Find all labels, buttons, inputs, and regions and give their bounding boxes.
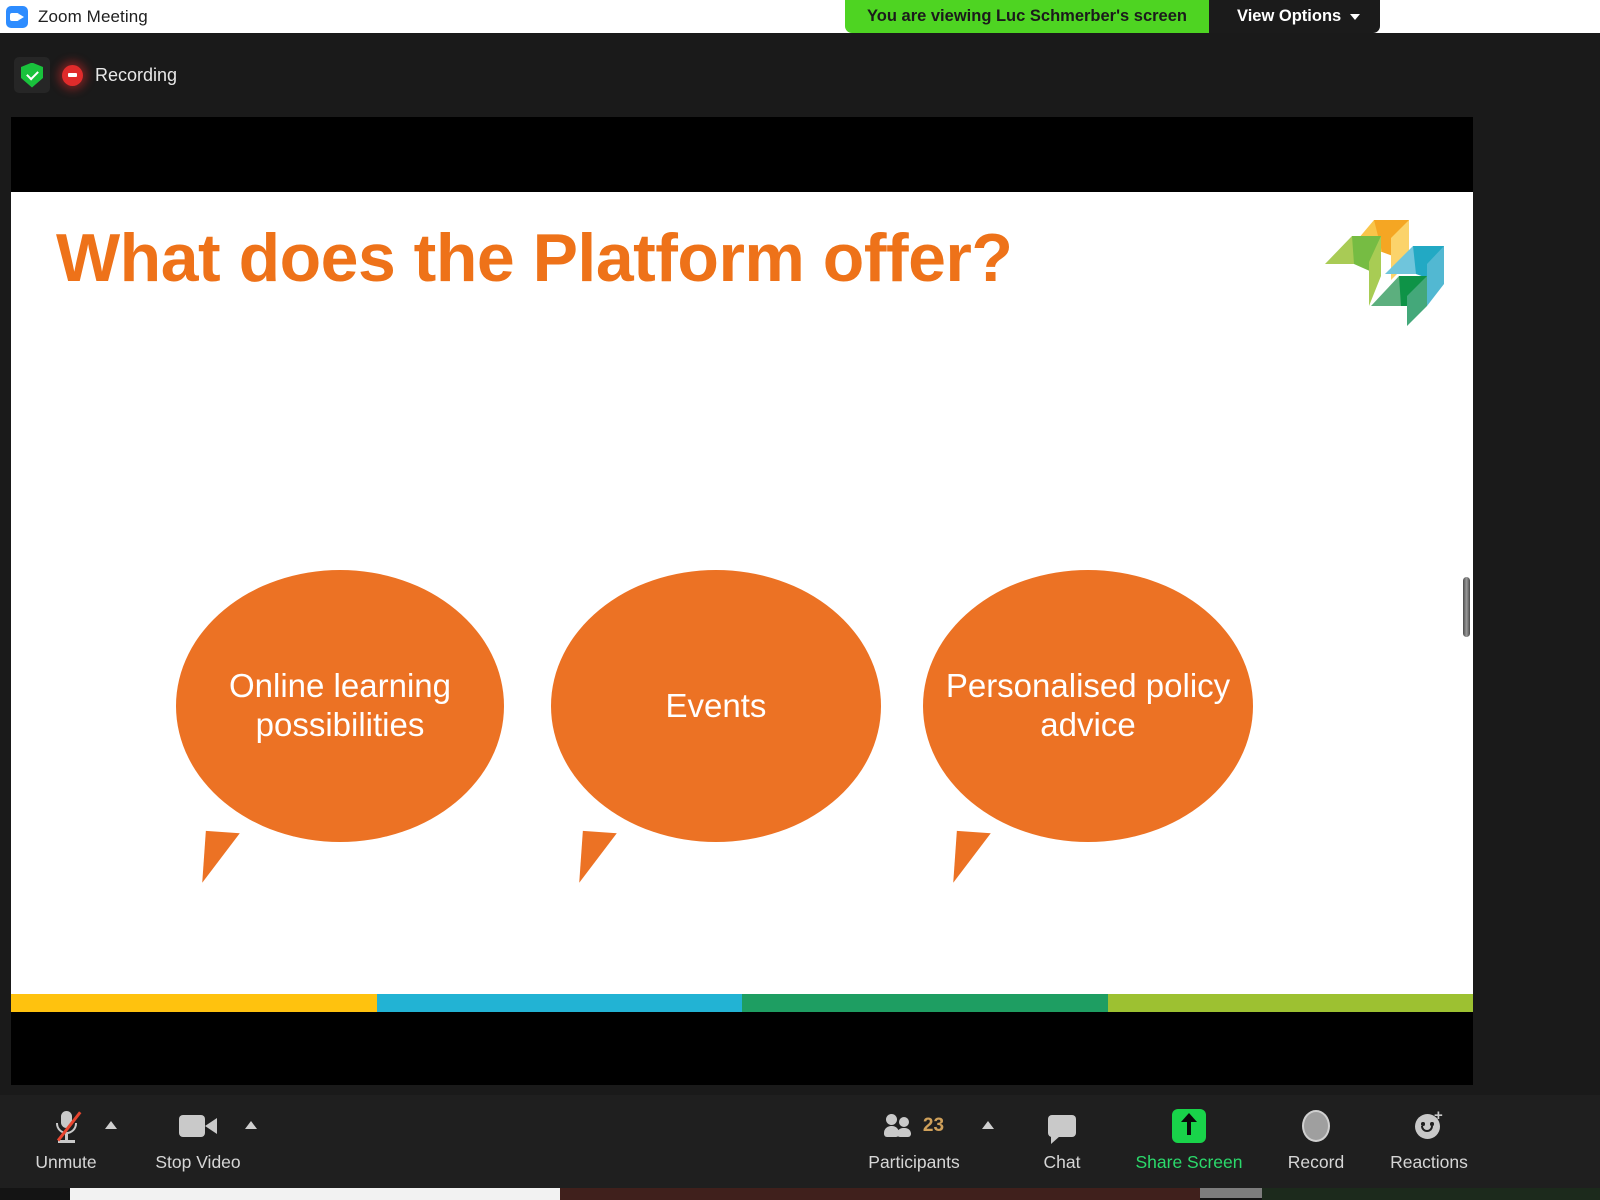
record-button[interactable]: Record [1262,1107,1370,1173]
presentation-slide: What does the Platform offer? Online lea… [11,192,1473,1012]
participants-button[interactable]: 23 Participants [860,1107,968,1173]
share-banner-text: You are viewing Luc Schmerber's screen [845,0,1209,33]
camera-icon [179,1107,217,1145]
stripe-segment-3 [1108,994,1474,1012]
speech-bubble-label: Online learning possibilities [176,667,504,745]
chevron-down-icon [1350,14,1360,20]
participants-label: Participants [868,1152,959,1173]
background-window-sliver[interactable] [1262,1188,1600,1200]
speech-bubble: Online learning possibilities [176,570,504,842]
participants-options-chevron-icon[interactable] [982,1121,994,1129]
chat-label: Chat [1044,1152,1081,1173]
people-icon: 23 [884,1107,944,1145]
speech-bubble: Personalised policy advice [923,570,1253,842]
participants-count: 23 [923,1115,944,1137]
meeting-status-strip: Recording [0,33,1600,117]
reactions-label: Reactions [1390,1152,1468,1173]
bubble-tail-icon [202,831,240,885]
speech-bubble-label: Personalised policy advice [923,667,1253,745]
desktop-background-sliver [0,1188,1600,1200]
stop-video-label: Stop Video [155,1152,240,1173]
bubble-tail-icon [579,831,617,885]
share-screen-label: Share Screen [1135,1152,1242,1173]
stop-video-button[interactable]: Stop Video [144,1107,252,1173]
slide-color-stripe [11,994,1473,1012]
shared-screen-viewport[interactable]: What does the Platform offer? Online lea… [11,117,1473,1085]
stripe-segment-1 [377,994,743,1012]
audio-options-chevron-icon[interactable] [105,1121,117,1129]
window-title: Zoom Meeting [38,7,148,27]
bubble-tail-icon [953,831,991,885]
record-circle-icon [1302,1107,1330,1145]
unmute-label: Unmute [35,1152,96,1173]
record-label: Record [1288,1152,1344,1173]
zoom-camera-icon [6,6,28,28]
share-screen-icon [1172,1107,1206,1145]
record-dot-icon [62,65,83,86]
speech-bubble-label: Events [666,687,767,726]
background-window-sliver[interactable] [70,1188,560,1200]
share-screen-button[interactable]: Share Screen [1135,1107,1243,1173]
encryption-shield-button[interactable] [14,57,50,93]
view-options-button[interactable]: View Options [1209,0,1380,33]
speech-bubble: Events [551,570,881,842]
pinwheel-brand-logo [1319,202,1449,327]
meeting-control-bar: Unmute Stop Video 23 Participants Chat S… [0,1095,1600,1200]
unmute-button[interactable]: Unmute [12,1107,120,1173]
chat-button[interactable]: Chat [1008,1107,1116,1173]
screen-share-banner: You are viewing Luc Schmerber's screen V… [845,0,1380,33]
smiley-plus-icon: + [1414,1107,1444,1145]
view-options-label: View Options [1237,7,1341,26]
reactions-button[interactable]: + Reactions [1375,1107,1483,1173]
stripe-segment-0 [11,994,377,1012]
shield-check-icon [21,63,43,88]
microphone-muted-icon [53,1107,79,1145]
background-window-sliver[interactable] [1200,1188,1262,1198]
background-window-sliver[interactable] [560,1188,1200,1200]
stripe-segment-2 [742,994,1108,1012]
recording-label: Recording [95,65,177,86]
slide-title: What does the Platform offer? [56,219,1012,297]
video-options-chevron-icon[interactable] [245,1121,257,1129]
shared-screen-scrollbar[interactable] [1463,577,1470,637]
chat-bubble-icon [1048,1107,1076,1145]
